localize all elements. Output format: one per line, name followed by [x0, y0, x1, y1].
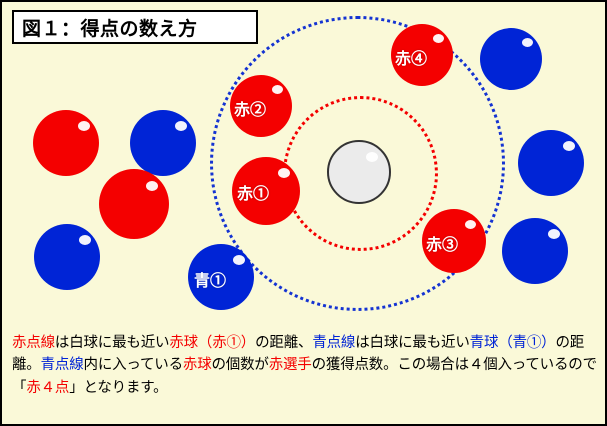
- caption-blue-dotted-line-2: 青点線: [41, 357, 84, 373]
- red-stone-left-highlight: [78, 121, 90, 131]
- caption-red-dotted-line: 赤点線: [12, 335, 55, 351]
- blue-stone-left-upper-highlight: [175, 121, 187, 131]
- figure-caption: 赤点線は白球に最も近い赤球（赤①）の距離、青点線は白球に最も近い青球（青①）の距…: [12, 332, 597, 399]
- caption-text-9: 」となります。: [69, 380, 167, 396]
- caption-red-stones-ref: 赤球: [183, 357, 212, 373]
- red-stone-2-highlight: [272, 85, 283, 94]
- curling-sheet-diagram: 赤② 赤① 赤④ 赤③ 青①: [2, 2, 607, 324]
- red-stone-lower-left-highlight: [146, 181, 158, 191]
- red-stone-left: [33, 110, 99, 176]
- red-stone-4-highlight: [433, 34, 444, 43]
- caption-text-1: は白球に最も近い: [55, 335, 169, 351]
- blue-stone-top-right-highlight: [522, 38, 533, 47]
- red-stone-1-label: 赤①: [237, 187, 269, 203]
- blue-stone-left-upper: [130, 110, 196, 176]
- blue-stone-lower-left: [34, 224, 100, 290]
- blue-stone-lower-right: [502, 218, 568, 284]
- red-stone-4-label: 赤④: [395, 52, 427, 68]
- red-stone-1-highlight: [278, 168, 290, 178]
- blue-stone-1-label: 青①: [194, 274, 226, 290]
- caption-red-player-ref: 赤選手: [269, 357, 312, 373]
- red-stone-3-label: 赤③: [426, 238, 458, 254]
- blue-stone-right: [518, 130, 584, 196]
- red-stone-2-label: 赤②: [234, 103, 266, 119]
- blue-stone-top-right: [480, 28, 542, 90]
- caption-text-6: 内に入っている: [84, 357, 183, 373]
- caption-text-4: い: [455, 335, 469, 351]
- blue-stone-1-highlight: [233, 255, 245, 265]
- caption-text-3: は白球に最も近: [355, 335, 455, 351]
- red-stone-lower-left: [99, 169, 169, 239]
- blue-stone-lower-right-highlight: [548, 229, 560, 239]
- caption-text-2: の距離、: [255, 335, 312, 351]
- figure-container: 図１：得点の数え方 赤② 赤① 赤④ 赤③: [0, 0, 607, 426]
- caption-blue-stone-ref: 青球（青①）: [470, 335, 556, 351]
- white-stone-button-highlight: [366, 152, 378, 162]
- blue-stone-right-highlight: [563, 141, 575, 151]
- white-stone-button: [327, 140, 391, 204]
- blue-stone-lower-left-highlight: [79, 235, 91, 245]
- caption-score-result: 赤４点: [26, 380, 69, 396]
- caption-blue-dotted-line: 青点線: [312, 335, 355, 351]
- caption-text-7: の個数が: [212, 357, 269, 373]
- red-stone-3-highlight: [465, 220, 476, 229]
- caption-red-stone-ref: 赤球（赤①）: [169, 335, 255, 351]
